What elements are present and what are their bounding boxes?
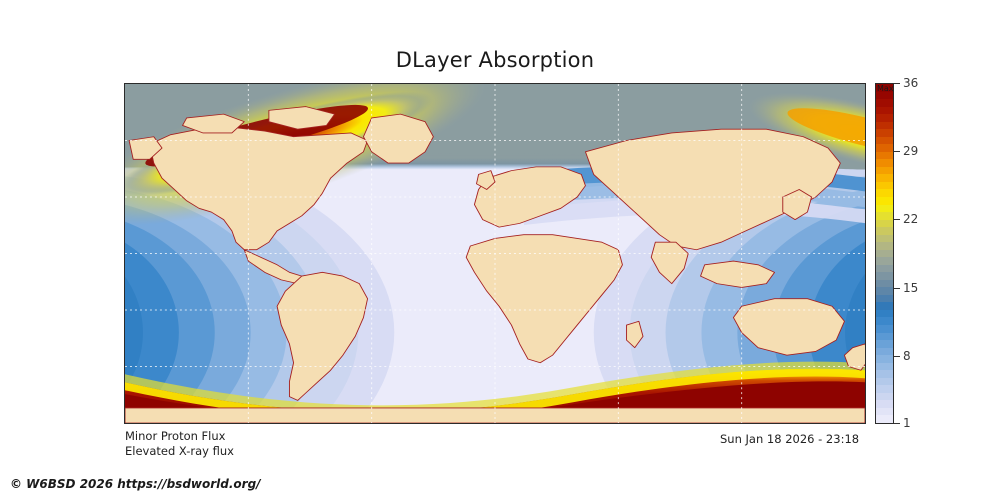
- colorbar-band: [876, 325, 893, 333]
- colorbar-band: [876, 152, 893, 160]
- graticule-gridlines: [125, 84, 865, 423]
- colorbar-axis-label: Affected Frequency (MHz): [906, 83, 1000, 424]
- colorbar[interactable]: Max 1815222936: [875, 83, 894, 424]
- colorbar-band: [876, 129, 893, 137]
- colorbar-band: [876, 348, 893, 356]
- colorbar-band: [876, 227, 893, 235]
- colorbar-band: [876, 250, 893, 258]
- colorbar-band: [876, 393, 893, 401]
- colorbar-band: [876, 99, 893, 107]
- copyright-label: © W6BSD 2026 https://bsdworld.org/: [10, 477, 261, 491]
- colorbar-band: [876, 355, 893, 363]
- alert-line-2: Elevated X-ray flux: [125, 444, 234, 459]
- colorbar-band: [876, 370, 893, 378]
- colorbar-band: [876, 212, 893, 220]
- colorbar-band: [876, 400, 893, 408]
- colorbar-tick: [894, 288, 900, 289]
- colorbar-band: [876, 107, 893, 115]
- colorbar-band: [876, 363, 893, 371]
- page-title: DLayer Absorption: [0, 48, 990, 72]
- colorbar-band: [876, 385, 893, 393]
- colorbar-tick: [894, 356, 900, 357]
- colorbar-band: [876, 205, 893, 213]
- alert-messages: Minor Proton Flux Elevated X-ray flux: [125, 429, 234, 459]
- colorbar-band: [876, 114, 893, 122]
- colorbar-band: [876, 408, 893, 416]
- colorbar-band: [876, 137, 893, 145]
- colorbar-band: [876, 310, 893, 318]
- colorbar-band: [876, 122, 893, 130]
- colorbar-band: [876, 174, 893, 182]
- colorbar-max-label: Max: [877, 84, 894, 93]
- colorbar-band: [876, 272, 893, 280]
- colorbar-bands: [875, 83, 894, 424]
- alert-line-1: Minor Proton Flux: [125, 429, 234, 444]
- colorbar-band: [876, 257, 893, 265]
- colorbar-tick: [894, 83, 900, 84]
- colorbar-band: [876, 242, 893, 250]
- colorbar-band: [876, 235, 893, 243]
- colorbar-tick: [894, 151, 900, 152]
- colorbar-band: [876, 415, 893, 423]
- colorbar-band: [876, 280, 893, 288]
- colorbar-band: [876, 295, 893, 303]
- colorbar-tick: [894, 219, 900, 220]
- colorbar-band: [876, 302, 893, 310]
- colorbar-band: [876, 144, 893, 152]
- colorbar-band: [876, 378, 893, 386]
- colorbar-band: [876, 287, 893, 295]
- colorbar-band: [876, 317, 893, 325]
- colorbar-band: [876, 167, 893, 175]
- colorbar-tick: [894, 423, 900, 424]
- colorbar-band: [876, 265, 893, 273]
- colorbar-band: [876, 333, 893, 341]
- colorbar-band: [876, 197, 893, 205]
- colorbar-band: [876, 159, 893, 167]
- timestamp-label: Sun Jan 18 2026 - 23:18: [720, 432, 859, 446]
- colorbar-band: [876, 340, 893, 348]
- absorption-map[interactable]: [124, 83, 866, 424]
- colorbar-band: [876, 220, 893, 228]
- colorbar-band: [876, 189, 893, 197]
- colorbar-band: [876, 182, 893, 190]
